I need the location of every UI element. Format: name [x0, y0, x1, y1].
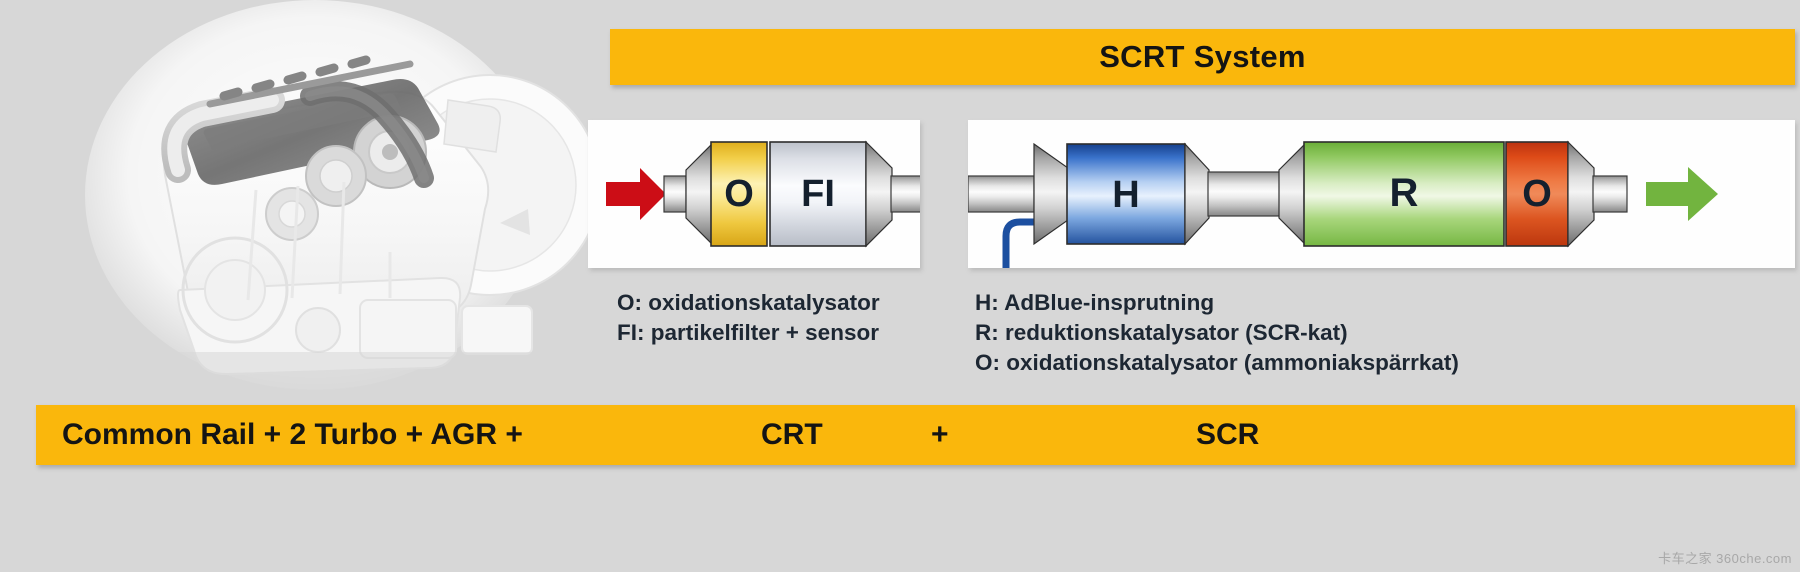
scr-legend-line-3: O: oxidationskatalysator (ammoniakspärrk…: [975, 348, 1459, 378]
crt-legend-line-1: O: oxidationskatalysator: [617, 288, 880, 318]
engine-illustration: [60, 0, 590, 400]
svg-text:H: H: [1112, 174, 1139, 216]
svg-text:R: R: [1390, 171, 1419, 215]
scr-legend: H: AdBlue-insprutning R: reduktionskatal…: [975, 288, 1459, 378]
svg-text:O: O: [724, 173, 754, 215]
engine-image: [60, 0, 590, 400]
svg-text:FI: FI: [801, 173, 835, 215]
summary-segment-engine: Common Rail + 2 Turbo + AGR +: [62, 405, 523, 465]
watermark: 卡车之家 360che.com: [1658, 548, 1792, 567]
exhaust-inlet-arrow: [606, 168, 666, 220]
summary-segment-crt: CRT: [761, 405, 823, 465]
summary-segment-plus: +: [931, 405, 949, 465]
scr-legend-line-2: R: reduktionskatalysator (SCR-kat): [975, 318, 1459, 348]
crt-module-diagram: O FI: [588, 120, 920, 268]
page-title: SCRT System: [610, 29, 1795, 85]
crt-legend-line-2: FI: partikelfilter + sensor: [617, 318, 880, 348]
slide-canvas: SCRT System: [0, 0, 1800, 572]
scr-module-diagram: H R O: [968, 120, 1795, 268]
summary-bar: Common Rail + 2 Turbo + AGR + CRT + SCR: [36, 405, 1795, 465]
scr-legend-line-1: H: AdBlue-insprutning: [975, 288, 1459, 318]
svg-text:O: O: [1522, 173, 1552, 215]
scr-module-panel: H R O: [968, 120, 1795, 268]
exhaust-outlet-arrow: [1646, 167, 1718, 221]
crt-legend: O: oxidationskatalysator FI: partikelfil…: [617, 288, 880, 348]
crt-module-panel: O FI: [588, 120, 920, 268]
summary-segment-scr: SCR: [1196, 405, 1259, 465]
page-title-text: SCRT System: [1099, 39, 1306, 75]
